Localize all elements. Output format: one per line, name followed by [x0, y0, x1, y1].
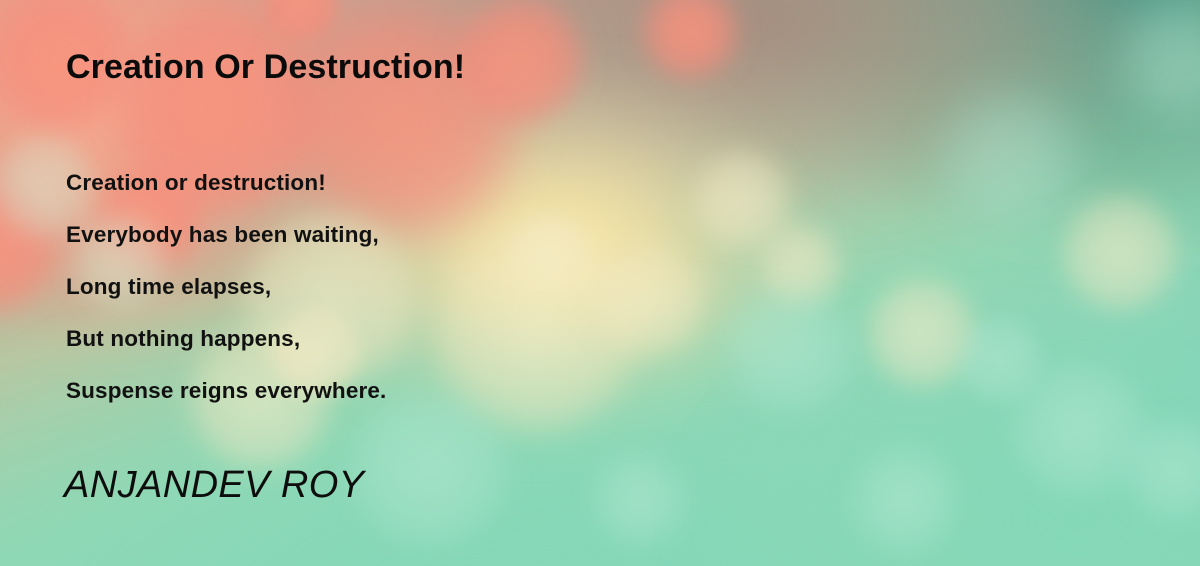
poem-image-card: Creation Or Destruction! Creation or des…	[0, 0, 1200, 566]
poem-line: Long time elapses,	[66, 261, 386, 313]
poem-line: Creation or destruction!	[66, 157, 386, 209]
poem-line: Suspense reigns everywhere.	[66, 365, 386, 417]
poem-author-name: ANJANDEV ROY	[64, 464, 364, 507]
poem-text-container: Creation Or Destruction! Creation or des…	[0, 0, 1200, 566]
poem-line: But nothing happens,	[66, 313, 386, 365]
poem-line: Everybody has been waiting,	[66, 209, 386, 261]
poem-title: Creation Or Destruction!	[66, 48, 465, 87]
poem-body: Creation or destruction! Everybody has b…	[66, 157, 386, 417]
